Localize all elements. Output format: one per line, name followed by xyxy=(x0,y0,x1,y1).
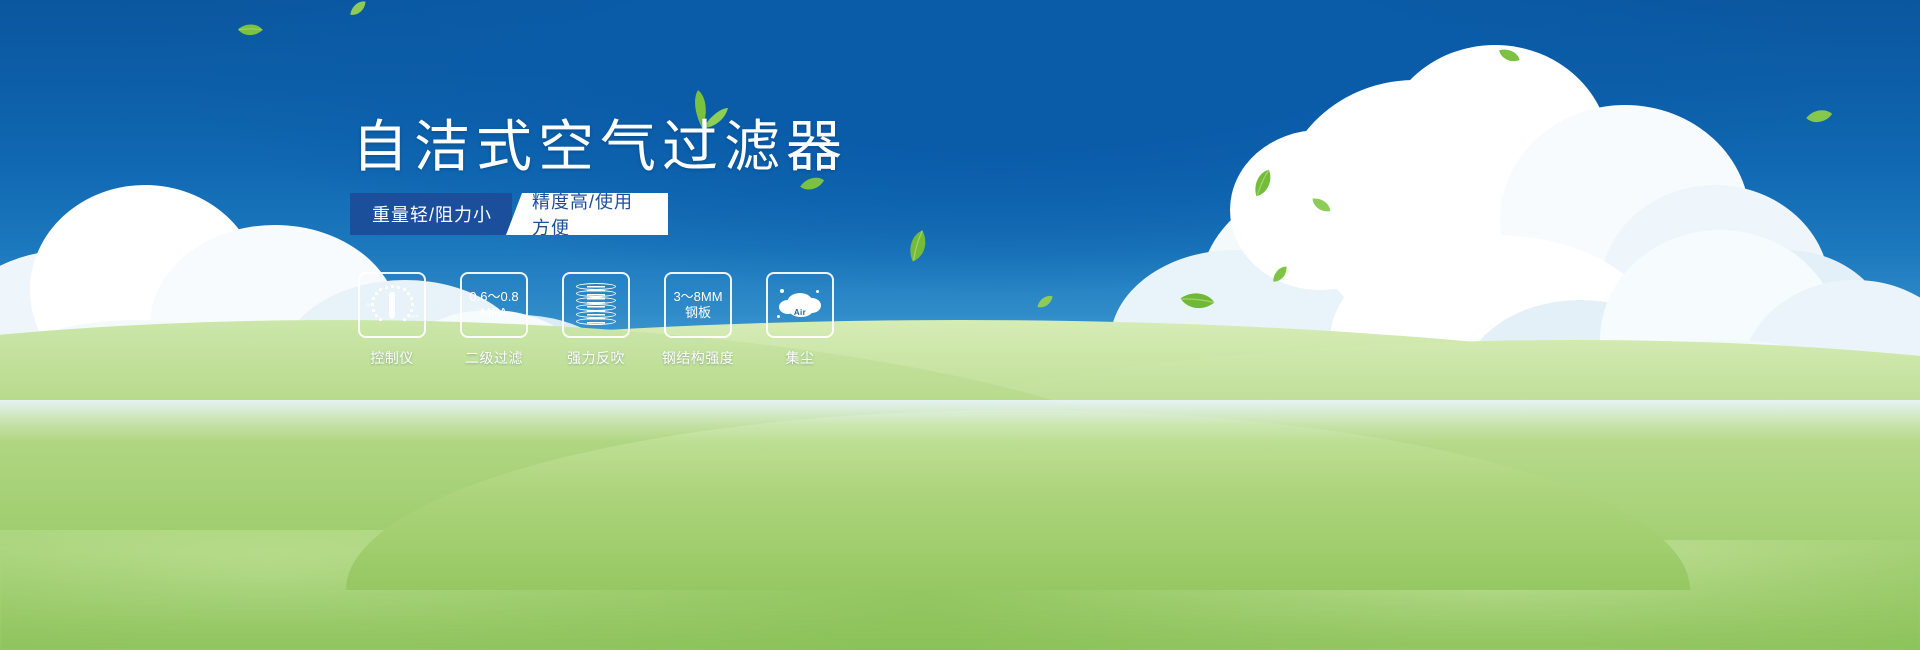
feature-label-dust-collection: 集尘 xyxy=(786,348,815,368)
feature-box-steel-plate: 3～8MM 钢板 xyxy=(664,272,732,338)
gauge-icon: NO OFF xyxy=(369,285,415,325)
steel-value-line2: 钢板 xyxy=(685,305,711,321)
feature-item-secondary-filtration[interactable]: 0.6～0.8 MPA 二级过滤 xyxy=(460,272,528,368)
feature-label-controller: 控制仪 xyxy=(370,348,414,368)
feature-item-strong-backblow[interactable]: 强力反吹 xyxy=(562,272,630,368)
feature-item-steel-strength[interactable]: 3～8MM 钢板 钢结构强度 xyxy=(664,272,732,368)
gauge-label-off: OFF xyxy=(409,314,419,320)
feature-box-dust: Air xyxy=(766,272,834,338)
filter-coil-icon xyxy=(576,283,616,327)
air-label: Air xyxy=(777,308,823,318)
feature-label-steel-strength: 钢结构强度 xyxy=(662,348,735,368)
feature-box-backblow xyxy=(562,272,630,338)
tab-highprecision-easyuse[interactable]: 精度高/使用方便 xyxy=(506,193,668,235)
gauge-label-no: NO xyxy=(367,302,374,308)
feature-item-dust-collection[interactable]: Air 集尘 xyxy=(766,272,834,368)
feature-tab-group: 重量轻/阻力小 精度高/使用方便 xyxy=(350,193,668,235)
steel-value-line1: 3～8MM xyxy=(673,289,722,305)
page-title: 自洁式空气过滤器 xyxy=(352,116,848,178)
feature-icon-row: NO OFF 控制仪 0.6～0.8 MPA 二级过滤 xyxy=(358,272,834,368)
feature-item-controller[interactable]: NO OFF 控制仪 xyxy=(358,272,426,368)
tab-lightweight-lowresistance[interactable]: 重量轻/阻力小 xyxy=(350,193,512,235)
pressure-value-line1: 0.6～0.8 xyxy=(469,289,518,305)
banner-content: 自洁式空气过滤器 重量轻/阻力小 精度高/使用方便 xyxy=(0,0,1920,650)
feature-box-controller: NO OFF xyxy=(358,272,426,338)
pressure-value-line2: MPA xyxy=(480,305,507,321)
feature-label-secondary-filtration: 二级过滤 xyxy=(465,348,523,368)
feature-label-strong-backblow: 强力反吹 xyxy=(567,348,625,368)
feature-box-pressure: 0.6～0.8 MPA xyxy=(460,272,528,338)
air-dust-cloud-icon: Air xyxy=(777,285,823,325)
hero-banner: 自洁式空气过滤器 重量轻/阻力小 精度高/使用方便 xyxy=(0,0,1920,650)
